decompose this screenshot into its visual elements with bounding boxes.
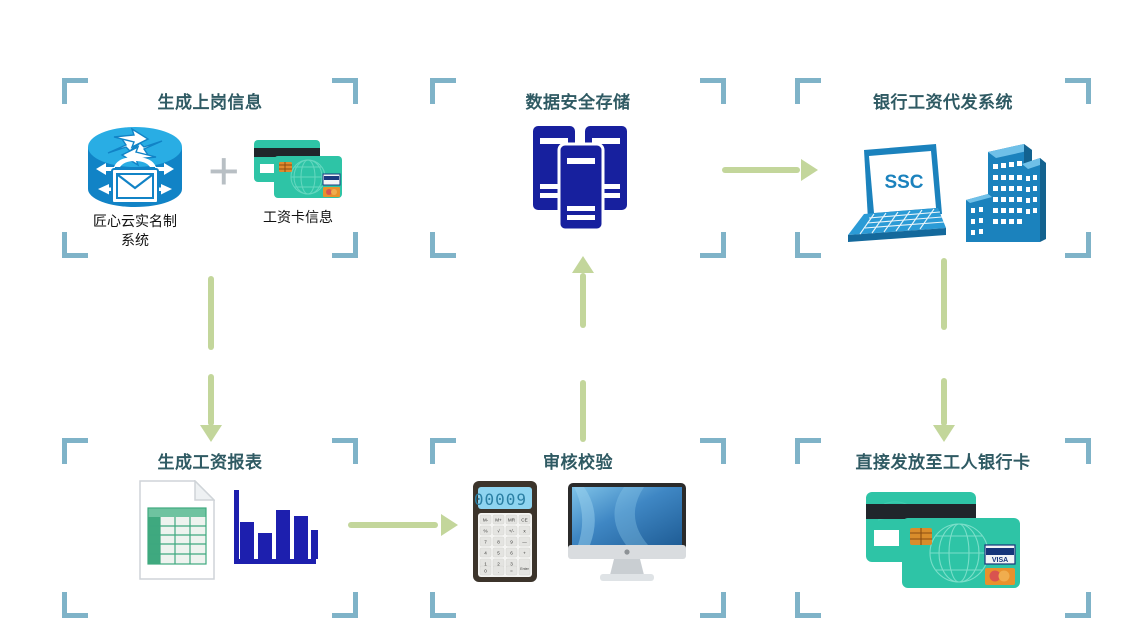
svg-text:7: 7	[484, 540, 487, 545]
laptop-ssc-icon: SSC	[838, 142, 950, 244]
svg-text:4: 4	[484, 551, 487, 556]
bracket-bottom-right	[700, 592, 726, 618]
arrow-shaft	[722, 167, 800, 173]
arrow-shaft	[941, 258, 947, 330]
svg-text:1: 1	[484, 562, 487, 567]
svg-text:.: .	[498, 569, 499, 574]
connector-audit-to-store	[571, 256, 595, 328]
bracket-bottom-right	[1065, 592, 1091, 618]
connector-bank-to-cards-seg1	[932, 258, 956, 330]
connector-bank-to-cards	[932, 378, 956, 442]
server-stack-icon	[527, 118, 637, 236]
svg-text:M+: M+	[495, 518, 502, 523]
node-title: 生成工资报表	[62, 448, 358, 473]
bracket-bottom-right	[332, 592, 358, 618]
bracket-bottom-right	[1065, 232, 1091, 258]
node-title: 数据安全存储	[430, 88, 726, 113]
svg-text:CE: CE	[521, 518, 527, 523]
bracket-bottom-right	[700, 232, 726, 258]
arrow-shaft	[208, 374, 214, 426]
arrow-shaft	[208, 276, 214, 350]
bracket-bottom-right	[332, 232, 358, 258]
arrow-shaft	[941, 378, 947, 426]
bank-buildings-icon	[962, 140, 1048, 246]
svg-text:9: 9	[510, 540, 513, 545]
bracket-bottom-left	[430, 232, 456, 258]
connector-audit-to-store-seg2	[571, 380, 595, 442]
svg-text:+/-: +/-	[509, 529, 515, 534]
node-title: 生成上岗信息	[62, 88, 358, 113]
node-1-sublabel-card: 工资卡信息	[232, 208, 364, 227]
svg-text:6: 6	[510, 551, 513, 556]
svg-text:=: =	[510, 569, 513, 574]
node-title: 直接发放至工人银行卡	[795, 448, 1091, 473]
payroll-card-icon	[252, 138, 344, 200]
svg-text:0: 0	[484, 569, 487, 574]
network-router-icon	[78, 117, 192, 213]
svg-text:2: 2	[497, 562, 500, 567]
svg-text:VISA: VISA	[992, 557, 1008, 564]
svg-text:SSC: SSC	[884, 172, 923, 193]
node-title: 审核校验	[430, 448, 726, 473]
calculator-icon: 00009 M-M+ MRCE %√ +/-x	[473, 481, 537, 582]
connector-hire-to-report-seg1	[199, 276, 223, 350]
bracket-bottom-left	[795, 232, 821, 258]
svg-text:3: 3	[510, 562, 513, 567]
svg-text:M-: M-	[483, 518, 489, 523]
svg-text:8: 8	[497, 540, 500, 545]
bar-chart-icon	[232, 488, 318, 568]
bracket-bottom-left	[62, 592, 88, 618]
svg-text:%: %	[483, 529, 487, 534]
arrow-shaft	[348, 522, 438, 528]
node-title: 银行工资代发系统	[795, 88, 1091, 113]
diagram-canvas: 生成上岗信息 +	[0, 0, 1143, 641]
bracket-bottom-left	[430, 592, 456, 618]
node-1-sublabel-system: 匠心云实名制 系统	[70, 212, 200, 250]
arrow-head	[572, 256, 594, 273]
svg-text:5: 5	[497, 551, 500, 556]
plus-icon: +	[208, 144, 240, 198]
svg-text:Enter: Enter	[520, 567, 529, 571]
arrow-shaft	[580, 273, 586, 328]
bank-cards-icon: VISA	[864, 490, 1022, 590]
svg-text:MR: MR	[508, 518, 516, 523]
svg-text:—: —	[522, 540, 527, 545]
bracket-bottom-left	[795, 592, 821, 618]
desktop-monitor-icon	[566, 483, 688, 583]
calculator-display-text: 00009	[474, 490, 527, 509]
spreadsheet-document-icon	[139, 480, 215, 580]
connector-hire-to-report	[199, 374, 223, 442]
arrow-shaft	[580, 380, 586, 442]
svg-text:+: +	[523, 551, 526, 556]
